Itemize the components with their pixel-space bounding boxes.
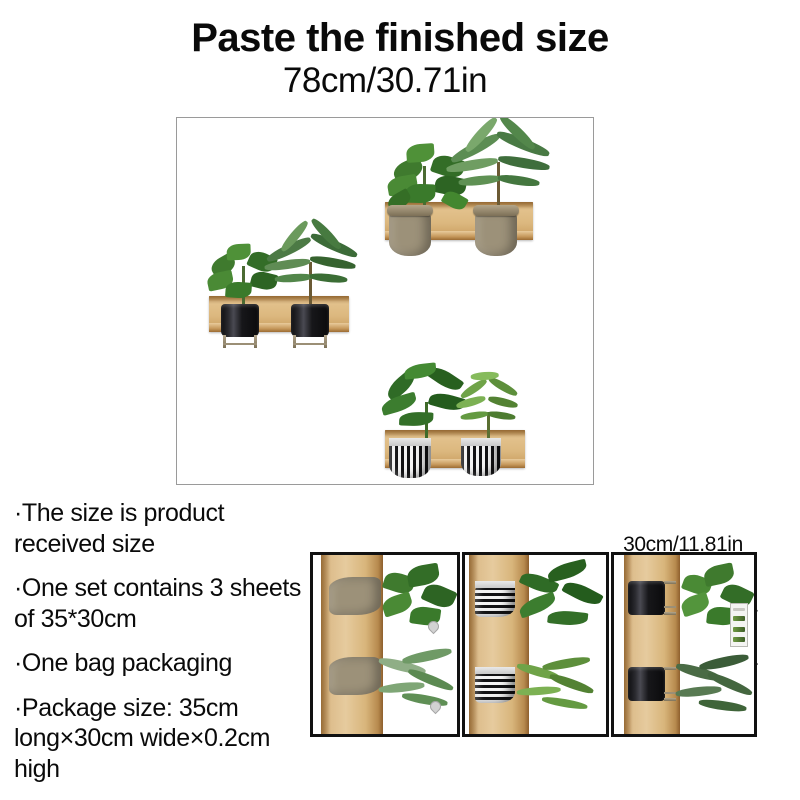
- pot-wicker-sheet1-upper: [329, 577, 381, 615]
- plant-fern-sheet2: [513, 655, 605, 721]
- pot-striped-sheet2-lower: [475, 667, 515, 703]
- plant-bird-of-paradise-sheet2: [513, 561, 607, 637]
- preview-box: [176, 117, 594, 485]
- plant-fern-bottom: [457, 372, 521, 446]
- pot-striped-sheet2-upper: [475, 581, 515, 617]
- bullet-item: ·The size is product received size: [14, 498, 314, 559]
- pot-black-stand-middle-right: [291, 304, 329, 348]
- plant-palm-middle: [269, 228, 355, 308]
- instruction-sticker-strip: [730, 603, 748, 647]
- plant-palm-top: [453, 124, 549, 216]
- pot-black-stand-sheet3-lower: [628, 667, 676, 701]
- bullet-item: ·One set contains 3 sheets of 35*30cm: [14, 573, 314, 634]
- finished-width-label: 78cm/30.71in: [176, 63, 594, 98]
- pot-black-stand-middle-left: [221, 304, 259, 348]
- sheet-2: [462, 552, 608, 737]
- plant-monstera-sheet1: [375, 563, 457, 633]
- product-infographic: Paste the finished size 78cm/30.71in 84c…: [0, 0, 800, 800]
- pot-wicker-top-right: [475, 210, 517, 256]
- sheet-1: [310, 552, 460, 737]
- page-title: Paste the finished size: [0, 18, 800, 58]
- pot-wicker-sheet1-lower: [329, 657, 381, 695]
- sheet-panels: [310, 552, 757, 737]
- sheet-3: [611, 552, 757, 737]
- bullet-item: ·One bag packaging: [14, 648, 314, 679]
- plant-palm-sheet3: [672, 653, 757, 725]
- pot-wicker-top-left: [389, 210, 431, 256]
- pot-striped-bottom-left: [389, 438, 431, 478]
- spec-bullet-list: ·The size is product received size ·One …: [14, 498, 314, 798]
- bullet-item: ·Package size: 35cm long×30cm wide×0.2cm…: [14, 693, 314, 785]
- pot-black-stand-sheet3-upper: [628, 581, 676, 615]
- pot-striped-bottom-right: [461, 438, 501, 476]
- plant-palm-sheet1: [375, 647, 459, 717]
